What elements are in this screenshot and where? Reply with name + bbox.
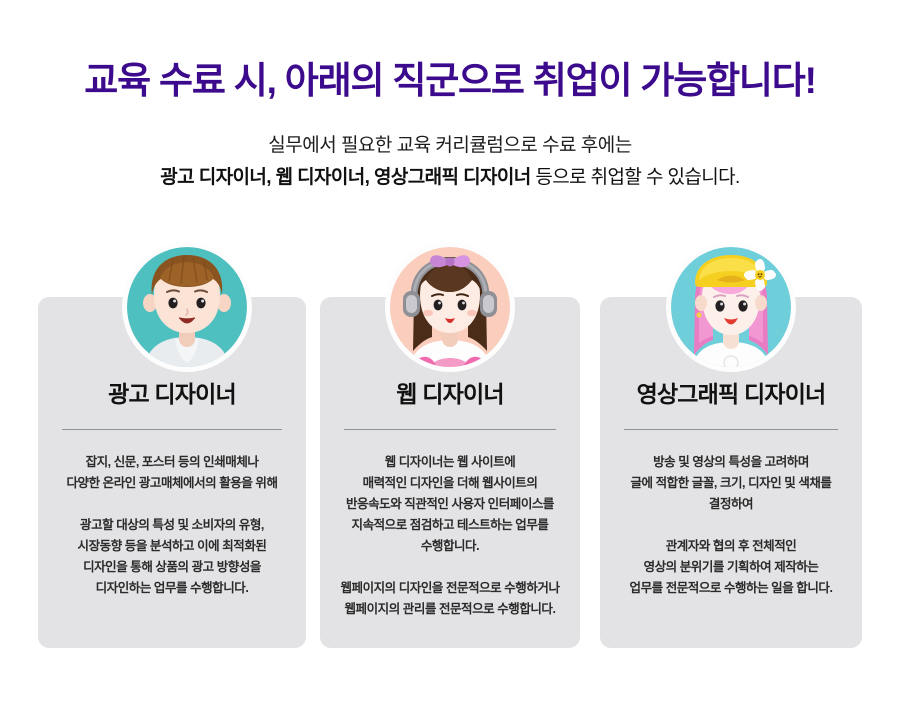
description-paragraph-1: 잡지, 신문, 포스터 등의 인쇄매체나다양한 온라인 광고매체에서의 활용을 … xyxy=(52,452,292,494)
job-card-title: 웹 디자이너 xyxy=(320,375,580,409)
paragraph-spacer xyxy=(334,557,566,578)
description-paragraph-1: 방송 및 영상의 특성을 고려하며글에 적합한 글꼴, 크기, 디자인 및 색채… xyxy=(614,452,848,515)
job-cards-container: 광고 디자이너 잡지, 신문, 포스터 등의 인쇄매체나다양한 온라인 광고매체… xyxy=(0,0,900,715)
job-card-description: 잡지, 신문, 포스터 등의 인쇄매체나다양한 온라인 광고매체에서의 활용을 … xyxy=(52,452,292,599)
job-card-title: 광고 디자이너 xyxy=(38,375,306,409)
paragraph-spacer xyxy=(52,494,292,515)
description-paragraph-2: 광고할 대상의 특성 및 소비자의 유형,시장동향 등을 분석하고 이에 최적화… xyxy=(52,515,292,599)
description-paragraph-1: 웹 디자이너는 웹 사이트에매력적인 디자인을 더해 웹사이트의반응속도와 직관… xyxy=(334,452,566,557)
card-divider xyxy=(344,429,556,430)
boy-avatar-icon xyxy=(127,247,247,367)
card-divider xyxy=(62,429,282,430)
description-paragraph-2: 관계자와 협의 후 전체적인영상의 분위기를 기획하여 제작하는업무를 전문적으… xyxy=(614,536,848,599)
job-card-description: 웹 디자이너는 웹 사이트에매력적인 디자인을 더해 웹사이트의반응속도와 직관… xyxy=(334,452,566,620)
description-paragraph-2: 웹페이지의 디자인을 전문적으로 수행하거나웹페이지의 관리를 전문적으로 수행… xyxy=(334,578,566,620)
job-card-title: 영상그래픽 디자이너 xyxy=(600,375,862,409)
girl-headphones-avatar-icon xyxy=(390,247,510,367)
card-divider xyxy=(624,429,838,430)
girl-pink-hair-cap-avatar-icon xyxy=(671,247,791,367)
job-card-description: 방송 및 영상의 특성을 고려하며글에 적합한 글꼴, 크기, 디자인 및 색채… xyxy=(614,452,848,599)
paragraph-spacer xyxy=(614,515,848,536)
